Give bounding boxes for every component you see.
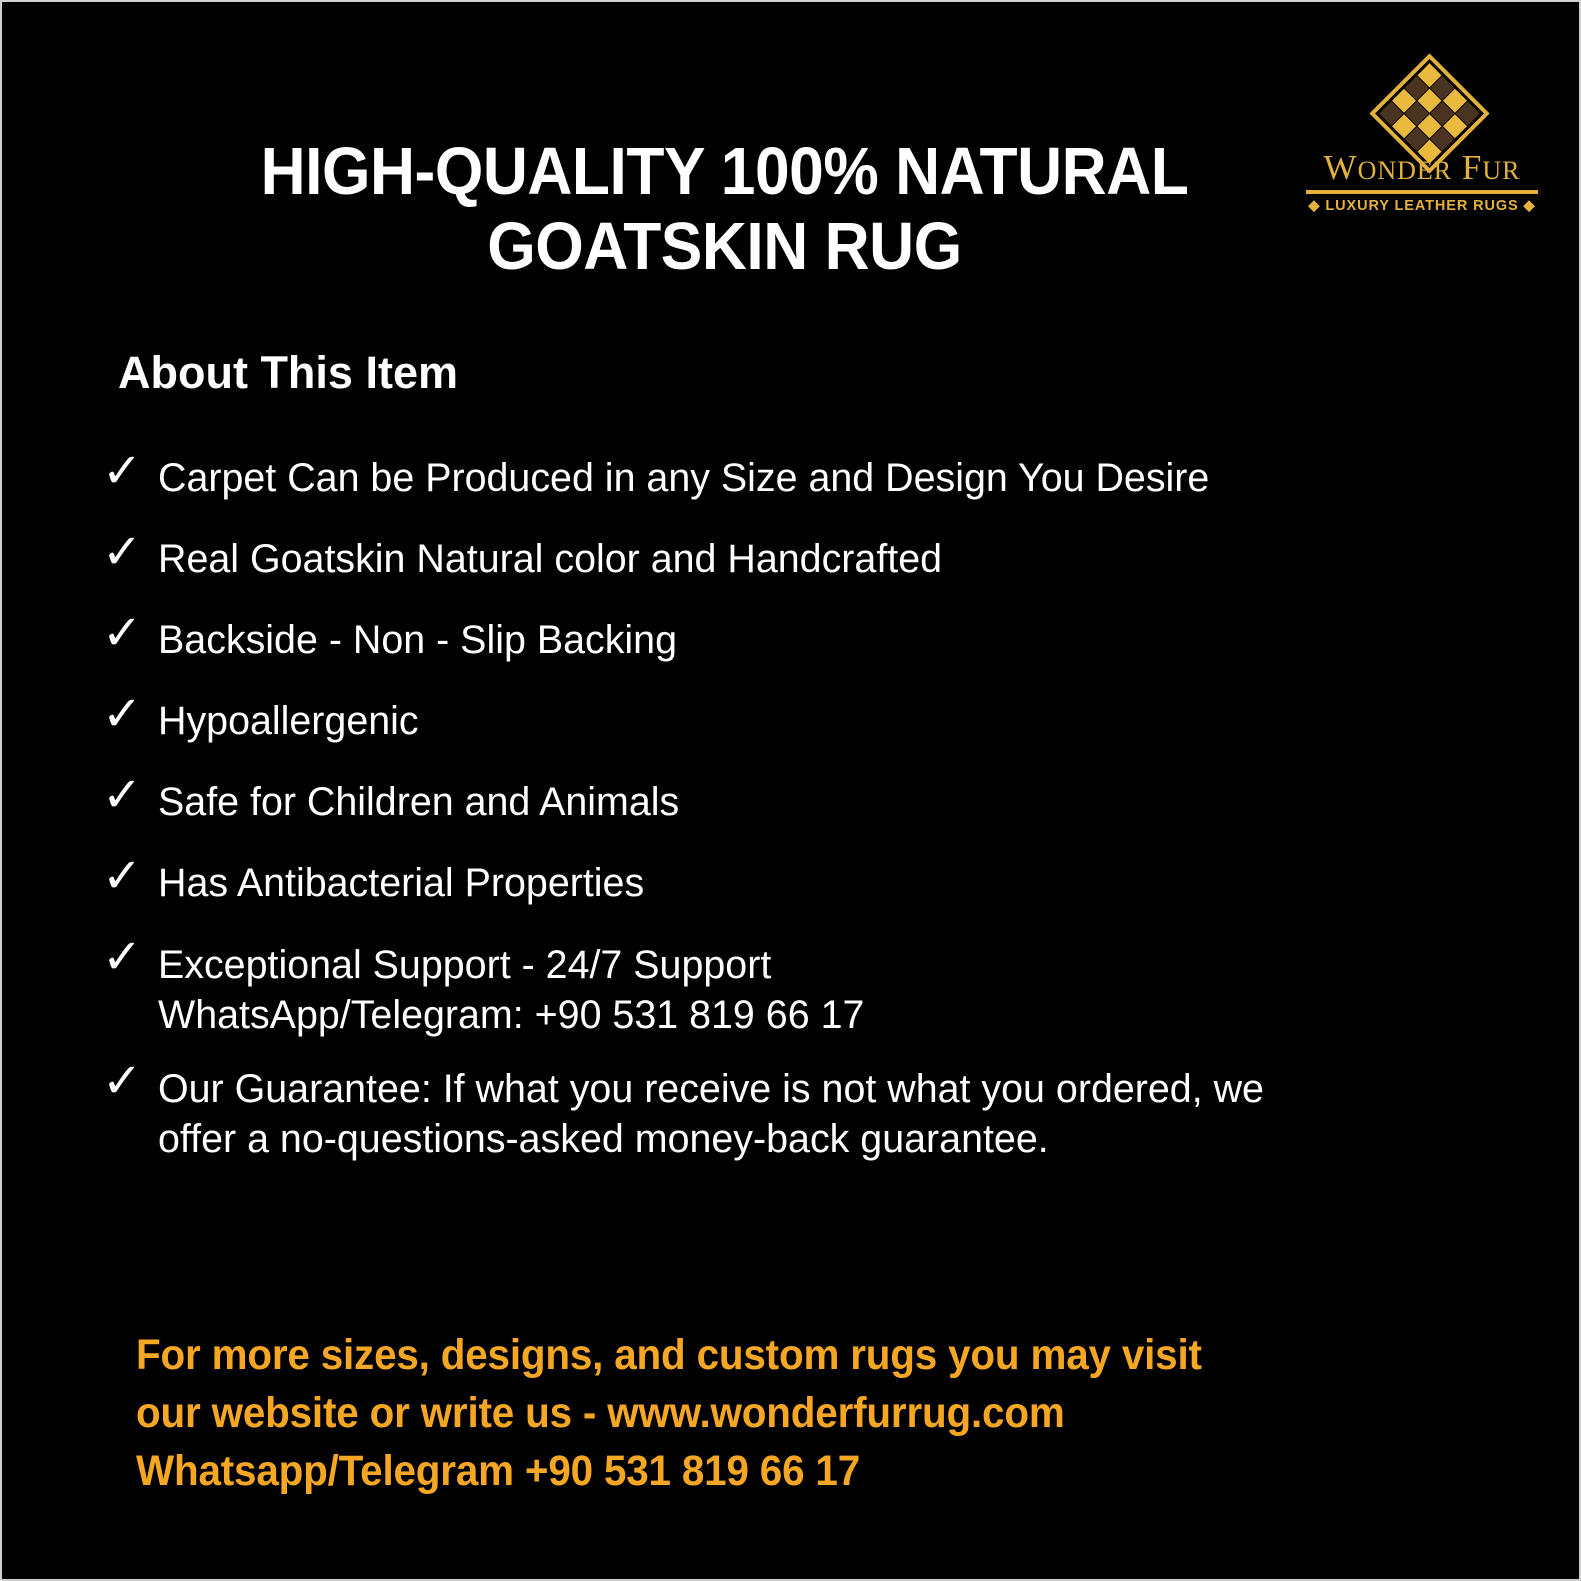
- footer-line-2[interactable]: our website or write us - www.wonderfurr…: [136, 1384, 1396, 1442]
- checkmark-icon: ✓: [102, 1058, 158, 1104]
- feature-item: ✓Backside - Non - Slip Backing: [102, 616, 1502, 664]
- feature-item-label: Has Antibacterial Properties: [158, 859, 644, 907]
- feature-item: ✓Carpet Can be Produced in any Size and …: [102, 454, 1502, 502]
- feature-list: ✓Carpet Can be Produced in any Size and …: [102, 454, 1502, 1188]
- logo-diamond-emblem: [1370, 54, 1474, 158]
- feature-item-label: Carpet Can be Produced in any Size and D…: [158, 454, 1209, 502]
- feature-item: ✓Hypoallergenic: [102, 697, 1502, 745]
- feature-item-label: Safe for Children and Animals: [158, 778, 679, 826]
- feature-item: ✓Real Goatskin Natural color and Handcra…: [102, 535, 1502, 583]
- feature-item-label: Hypoallergenic: [158, 697, 419, 745]
- checkmark-icon: ✓: [102, 934, 158, 980]
- footer-contact-block: For more sizes, designs, and custom rugs…: [136, 1326, 1396, 1500]
- checkmark-icon: ✓: [102, 529, 158, 575]
- logo-tagline: ◆ LUXURY LEATHER RUGS ◆: [1298, 198, 1546, 214]
- feature-item-label: Real Goatskin Natural color and Handcraf…: [158, 535, 942, 583]
- about-this-item-heading: About This Item: [118, 347, 458, 399]
- checkmark-icon: ✓: [102, 448, 158, 494]
- feature-item-label: Exceptional Support - 24/7 Support Whats…: [158, 940, 864, 1040]
- feature-item-label: Backside - Non - Slip Backing: [158, 616, 677, 664]
- product-info-banner: WONDER FUR ◆ LUXURY LEATHER RUGS ◆ HIGH-…: [0, 0, 1581, 1581]
- logo-brand-ur: UR: [1482, 156, 1520, 185]
- logo-divider-rule: [1306, 190, 1538, 194]
- checkmark-icon: ✓: [102, 853, 158, 899]
- feature-item: ✓Safe for Children and Animals: [102, 778, 1502, 826]
- footer-line-1: For more sizes, designs, and custom rugs…: [136, 1326, 1396, 1384]
- checkmark-icon: ✓: [102, 610, 158, 656]
- logo-brand-onder: ONDER: [1358, 156, 1453, 185]
- checkmark-icon: ✓: [102, 691, 158, 737]
- feature-item: ✓Our Guarantee: If what you receive is n…: [102, 1064, 1502, 1164]
- logo-brand-w: W: [1324, 148, 1358, 187]
- checkmark-icon: ✓: [102, 772, 158, 818]
- wonder-fur-logo: WONDER FUR ◆ LUXURY LEATHER RUGS ◆: [1298, 54, 1546, 214]
- page-title-line-2: GOATSKIN RUG: [183, 209, 1266, 284]
- page-title: HIGH-QUALITY 100% NATURAL GOATSKIN RUG: [183, 134, 1266, 284]
- feature-item: ✓Exceptional Support - 24/7 Support What…: [102, 940, 1502, 1040]
- page-title-line-1: HIGH-QUALITY 100% NATURAL: [183, 134, 1266, 209]
- feature-item: ✓Has Antibacterial Properties: [102, 859, 1502, 907]
- logo-brand-f: F: [1462, 148, 1482, 187]
- feature-item-label: Our Guarantee: If what you receive is no…: [158, 1064, 1264, 1164]
- footer-line-3[interactable]: Whatsapp/Telegram +90 531 819 66 17: [136, 1442, 1396, 1500]
- logo-brand-name: WONDER FUR: [1298, 150, 1546, 185]
